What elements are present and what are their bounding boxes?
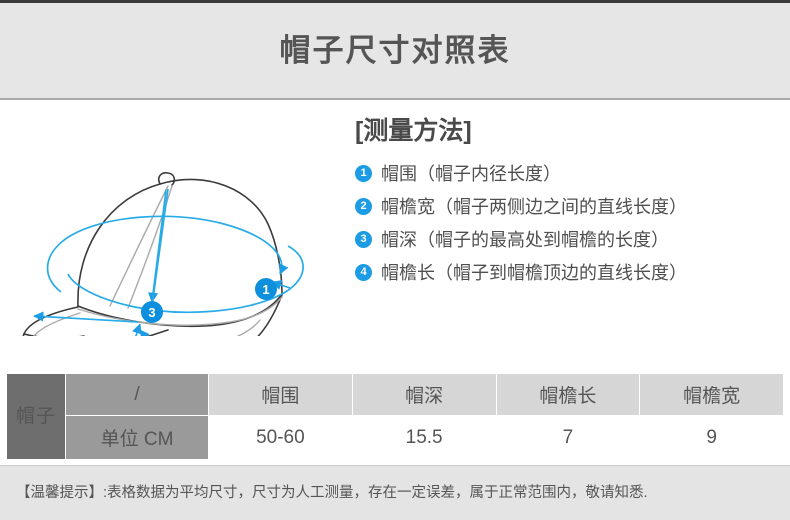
method-item-3-label: 帽深（帽子的最高处到帽檐的长度）: [381, 231, 669, 249]
method-item-3: 3 帽深（帽子的最高处到帽檐的长度）: [355, 228, 790, 252]
header-cell-1: 帽围: [209, 374, 353, 416]
badge-3-icon: 3: [355, 231, 372, 248]
badge-2-icon: 2: [355, 198, 372, 215]
content-area: 1 2 3 4 [测量方法] 1: [0, 100, 790, 373]
value-cell-1: 50-60: [209, 416, 353, 460]
cap-illustration-svg: 1 2 3 4: [0, 106, 350, 336]
badge-4-icon: 4: [355, 264, 372, 281]
size-table: 帽子 / 帽围 帽深 帽檐长 帽檐宽 单位 CM 50-60 15.5 7 9: [6, 373, 784, 460]
svg-text:3: 3: [148, 305, 155, 320]
value-cell-4: 9: [640, 416, 784, 460]
measurement-method-panel: [测量方法] 1 帽围（帽子内径长度） 2 帽檐宽（帽子两侧边之间的直线长度） …: [350, 100, 790, 373]
size-chart-page: 帽子尺寸对照表: [0, 0, 790, 520]
diagram-marker-1: 1: [255, 278, 277, 300]
method-item-2: 2 帽檐宽（帽子两侧边之间的直线长度）: [355, 195, 790, 219]
method-item-2-label: 帽檐宽（帽子两侧边之间的直线长度）: [381, 198, 687, 216]
diagram-marker-3: 3: [141, 301, 163, 323]
method-list: 1 帽围（帽子内径长度） 2 帽檐宽（帽子两侧边之间的直线长度） 3 帽深（帽子…: [355, 162, 790, 285]
row-label-slash: /: [66, 374, 209, 416]
method-item-1: 1 帽围（帽子内径长度）: [355, 162, 790, 186]
header-cell-3: 帽檐长: [496, 374, 640, 416]
method-item-1-label: 帽围（帽子内径长度）: [381, 165, 561, 183]
badge-1-icon: 1: [355, 165, 372, 182]
page-header: 帽子尺寸对照表: [0, 3, 790, 100]
value-cell-2: 15.5: [352, 416, 496, 460]
size-table-zone: 帽子 / 帽围 帽深 帽檐长 帽檐宽 单位 CM 50-60 15.5 7 9: [0, 373, 790, 460]
header-cell-2: 帽深: [352, 374, 496, 416]
method-item-4: 4 帽檐长（帽子到帽檐顶边的直线长度）: [355, 261, 790, 285]
footer-note-text: 【温馨提示】:表格数据为平均尺寸，尺寸为人工测量，存在一定误差，属于正常范围内，…: [0, 486, 648, 501]
method-item-4-label: 帽檐长（帽子到帽檐顶边的直线长度）: [381, 264, 687, 282]
table-row-headers: 帽子 / 帽围 帽深 帽檐长 帽檐宽: [7, 374, 784, 416]
measure-arrows: [34, 189, 303, 336]
row-label-unit: 单位 CM: [66, 416, 209, 460]
table-row-values: 单位 CM 50-60 15.5 7 9: [7, 416, 784, 460]
value-cell-3: 7: [496, 416, 640, 460]
method-title: [测量方法]: [355, 118, 790, 146]
page-title: 帽子尺寸对照表: [280, 35, 511, 66]
svg-text:1: 1: [262, 282, 269, 297]
header-cell-4: 帽檐宽: [640, 374, 784, 416]
cap-diagram: 1 2 3 4: [0, 100, 350, 373]
category-cell: 帽子: [7, 374, 66, 460]
footer-note: 【温馨提示】:表格数据为平均尺寸，尺寸为人工测量，存在一定误差，属于正常范围内，…: [0, 465, 790, 520]
